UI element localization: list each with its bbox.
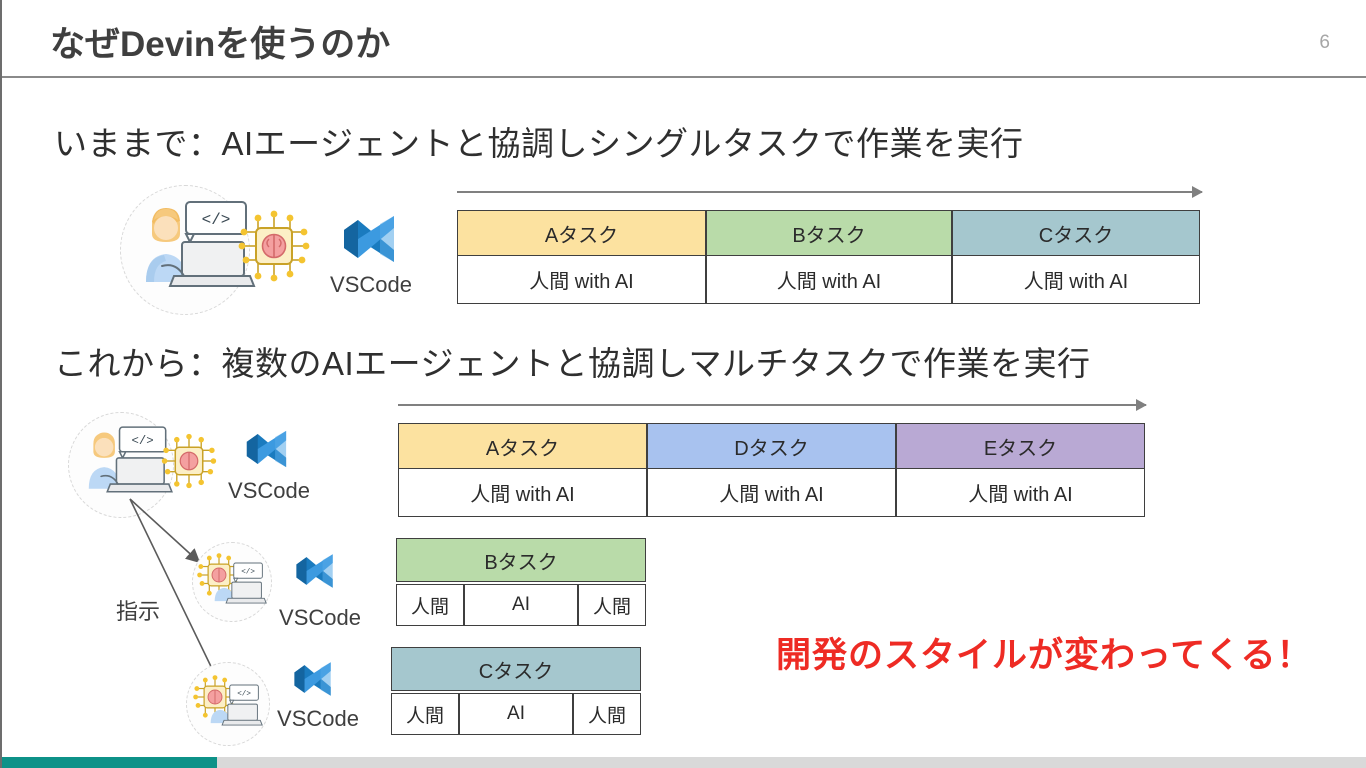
subtask-header: Cタスク bbox=[391, 647, 641, 691]
vscode-label: VSCode bbox=[272, 706, 364, 732]
emphasis-message: 開発のスタイルが変わってくる！ bbox=[776, 627, 1313, 678]
svg-text:</>: </> bbox=[202, 211, 231, 229]
subtask-block-b: Bタスク 人間 AI 人間 bbox=[396, 538, 646, 626]
task-header: Eタスク bbox=[896, 423, 1145, 469]
svg-text:</>: </> bbox=[241, 569, 255, 577]
vscode-logo-icon bbox=[242, 424, 294, 474]
gantt-column: Aタスク 人間 with AI bbox=[398, 423, 647, 517]
gantt-column: Bタスク 人間 with AI bbox=[706, 210, 952, 304]
subtask-cell: AI bbox=[464, 584, 578, 626]
svg-text:</>: </> bbox=[237, 691, 251, 699]
subtask-cell: 人間 bbox=[573, 693, 641, 735]
subtask-header: Bタスク bbox=[396, 538, 646, 582]
task-header: Cタスク bbox=[952, 210, 1200, 256]
subtask-cell: 人間 bbox=[391, 693, 459, 735]
ai-chip-brain-icon bbox=[236, 208, 312, 284]
page-title: なぜDevinを使うのか bbox=[50, 16, 390, 67]
svg-text:</>: </> bbox=[132, 434, 154, 448]
arrow-line bbox=[398, 404, 1146, 406]
task-worker: 人間 with AI bbox=[896, 469, 1145, 517]
timeline-arrow-1 bbox=[457, 186, 1202, 198]
agent-laptop-icon: </> bbox=[208, 560, 270, 608]
subtask-row: 人間 AI 人間 bbox=[396, 584, 646, 626]
timeline-arrow-2 bbox=[398, 399, 1146, 411]
vscode-label: VSCode bbox=[324, 272, 418, 298]
subtask-row: 人間 AI 人間 bbox=[391, 693, 641, 735]
subtask-cell: AI bbox=[459, 693, 573, 735]
arrow-head bbox=[1136, 399, 1147, 411]
vscode-label: VSCode bbox=[274, 605, 366, 631]
vscode-logo-icon bbox=[290, 656, 338, 702]
task-worker: 人間 with AI bbox=[952, 256, 1200, 304]
task-header: Aタスク bbox=[457, 210, 706, 256]
agent-laptop-icon: </> bbox=[204, 682, 266, 730]
section-heading-future: これから：複数のAIエージェントと協調しマルチタスクで作業を実行 bbox=[54, 337, 1091, 385]
subtask-cell: 人間 bbox=[396, 584, 464, 626]
gantt-column: Eタスク 人間 with AI bbox=[896, 423, 1145, 517]
section-heading-current: いままで：AIエージェントと協調しシングルタスクで作業を実行 bbox=[54, 117, 1024, 165]
task-worker: 人間 with AI bbox=[647, 469, 896, 517]
task-worker: 人間 with AI bbox=[706, 256, 952, 304]
task-worker: 人間 with AI bbox=[457, 256, 706, 304]
progress-fill bbox=[2, 757, 217, 768]
task-header: Dタスク bbox=[647, 423, 896, 469]
gantt-multi-task: Aタスク 人間 with AI Dタスク 人間 with AI Eタスク 人間 … bbox=[398, 423, 1145, 517]
subtask-cell: 人間 bbox=[578, 584, 646, 626]
vscode-logo-icon bbox=[292, 548, 340, 594]
task-worker: 人間 with AI bbox=[398, 469, 647, 517]
instruction-label: 指示 bbox=[116, 594, 160, 626]
gantt-single-task: Aタスク 人間 with AI Bタスク 人間 with AI Cタスク 人間 … bbox=[457, 210, 1200, 304]
ai-chip-brain-icon bbox=[160, 432, 218, 490]
slide-header: なぜDevinを使うのか 6 bbox=[2, 0, 1366, 78]
arrow-head bbox=[1192, 186, 1203, 198]
gantt-column: Cタスク 人間 with AI bbox=[952, 210, 1200, 304]
slide: なぜDevinを使うのか 6 いままで：AIエージェントと協調しシングルタスクで… bbox=[0, 0, 1366, 768]
page-number: 6 bbox=[1319, 32, 1330, 54]
task-header: Bタスク bbox=[706, 210, 952, 256]
gantt-column: Dタスク 人間 with AI bbox=[647, 423, 896, 517]
task-header: Aタスク bbox=[398, 423, 647, 469]
gantt-column: Aタスク 人間 with AI bbox=[457, 210, 706, 304]
subtask-block-c: Cタスク 人間 AI 人間 bbox=[391, 647, 641, 735]
vscode-logo-icon bbox=[338, 208, 404, 270]
arrow-line bbox=[457, 191, 1202, 193]
